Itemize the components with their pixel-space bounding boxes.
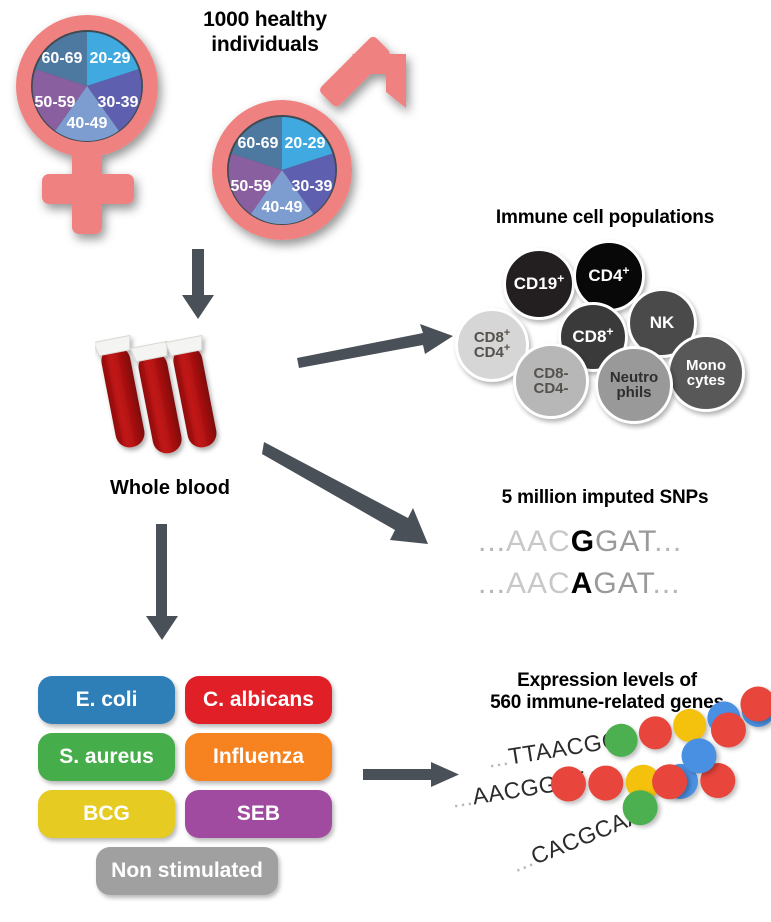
snp-sequence-row: ...AACAGAT... <box>478 567 681 601</box>
pie-label-50-59: 50-59 <box>231 178 272 195</box>
snp-right: GAT <box>595 525 654 558</box>
snp-left: AAC <box>506 567 571 600</box>
arrow-blood-to-immune <box>295 318 455 370</box>
cell-label-line: CD8- <box>533 366 568 381</box>
stimulation-button-s-aureus[interactable]: S. aureus <box>38 733 175 781</box>
snp-suffix: ... <box>654 525 682 558</box>
pie-label-20-29: 20-29 <box>90 50 131 67</box>
cell-label-line: CD19+ <box>514 275 565 292</box>
immune-cell-neutro-phils: Neutrophils <box>595 346 673 424</box>
stimulation-button-label: Non stimulated <box>111 859 263 883</box>
immune-cell-cluster: CD19+CD4+CD8+CD4+CD8+NKMonocytesCD8-CD4-… <box>455 240 765 415</box>
pie-label-40-49: 40-49 <box>262 199 303 216</box>
superscript: + <box>622 264 629 278</box>
cell-label-line: cytes <box>686 373 726 388</box>
stimulation-button-non-stimulated[interactable]: Non stimulated <box>96 847 278 895</box>
pie-label-60-69: 60-69 <box>238 135 279 152</box>
dna-bead <box>636 714 674 752</box>
whole-blood-label: Whole blood <box>60 477 280 500</box>
pie-label-30-39: 30-39 <box>98 94 139 111</box>
figure-canvas: 1000 healthy individuals <box>0 0 771 922</box>
stimulation-button-influenza[interactable]: Influenza <box>185 733 332 781</box>
stimulation-button-seb[interactable]: SEB <box>185 790 332 838</box>
dna-sequence-bases: TTAACGG <box>506 726 622 769</box>
stimulation-button-label: SEB <box>237 802 280 826</box>
superscript: + <box>504 342 510 354</box>
arrow-stimulation-to-expression <box>363 758 461 792</box>
arrow-blood-to-stimulation <box>142 524 182 642</box>
stimulation-button-label: Influenza <box>213 745 304 769</box>
dna-bead <box>586 763 626 803</box>
pie-label-20-29: 20-29 <box>285 135 326 152</box>
cell-label-line: Mono <box>686 358 726 373</box>
snp-highlight: G <box>571 525 595 558</box>
snps-title: 5 million imputed SNPs <box>450 487 760 509</box>
female-age-pie: 20-29 30-39 40-49 50-59 60-69 <box>33 32 142 141</box>
snp-highlight: A <box>571 567 594 600</box>
expression-title-line1: Expression levels of <box>452 670 762 692</box>
pie-label-30-39: 30-39 <box>292 178 333 195</box>
cell-label-line: CD8+ <box>572 328 613 345</box>
snp-sequence-row: ...AACGGAT... <box>478 525 682 559</box>
snp-prefix: ... <box>478 567 506 600</box>
cell-label-line: NK <box>650 314 675 331</box>
arrow-blood-to-snps <box>262 440 442 550</box>
stimulation-button-label: BCG <box>83 802 130 826</box>
snp-suffix: ... <box>653 567 681 600</box>
snp-right: GAT <box>593 567 652 600</box>
blood-tubes <box>95 330 225 475</box>
snp-prefix: ... <box>478 525 506 558</box>
pie-label-60-69: 60-69 <box>42 50 83 67</box>
snp-left: AAC <box>506 525 571 558</box>
arrow-cohort-to-blood <box>178 249 218 321</box>
stimulation-button-label: S. aureus <box>59 745 154 769</box>
male-age-pie: 20-29 30-39 40-49 50-59 60-69 <box>229 117 336 224</box>
female-symbol: 20-29 30-39 40-49 50-59 60-69 <box>6 14 196 244</box>
immune-title: Immune cell populations <box>450 207 760 229</box>
cell-label-line: phils <box>610 385 658 400</box>
cell-label-line: CD4+ <box>474 345 510 360</box>
cell-label-line: Neutro <box>610 370 658 385</box>
dna-strands: ...TTAACGG...AACGGAT...CACGCAA <box>450 735 771 920</box>
stimulation-button-label: E. coli <box>76 688 138 712</box>
snp-sequences: ...AACGGAT... ...AACAGAT... <box>470 525 760 615</box>
immune-cell-mono-cytes: Monocytes <box>667 334 745 412</box>
male-symbol: 20-29 30-39 40-49 50-59 60-69 <box>200 52 420 252</box>
immune-cell-cd8--cd4-: CD8-CD4- <box>513 343 589 419</box>
stimulation-button-c-albicans[interactable]: C. albicans <box>185 676 332 724</box>
stimulation-button-label: C. albicans <box>203 688 314 712</box>
stimulation-button-e-coli[interactable]: E. coli <box>38 676 175 724</box>
cell-label-line: CD4+ <box>588 267 629 284</box>
immune-cell-cd19: CD19+ <box>503 248 575 320</box>
stimulation-button-bcg[interactable]: BCG <box>38 790 175 838</box>
superscript: + <box>557 272 564 286</box>
pie-label-40-49: 40-49 <box>67 115 108 132</box>
superscript: + <box>606 325 613 339</box>
cell-label-line: CD4- <box>533 381 568 396</box>
pie-label-50-59: 50-59 <box>35 94 76 111</box>
superscript: + <box>504 327 510 339</box>
